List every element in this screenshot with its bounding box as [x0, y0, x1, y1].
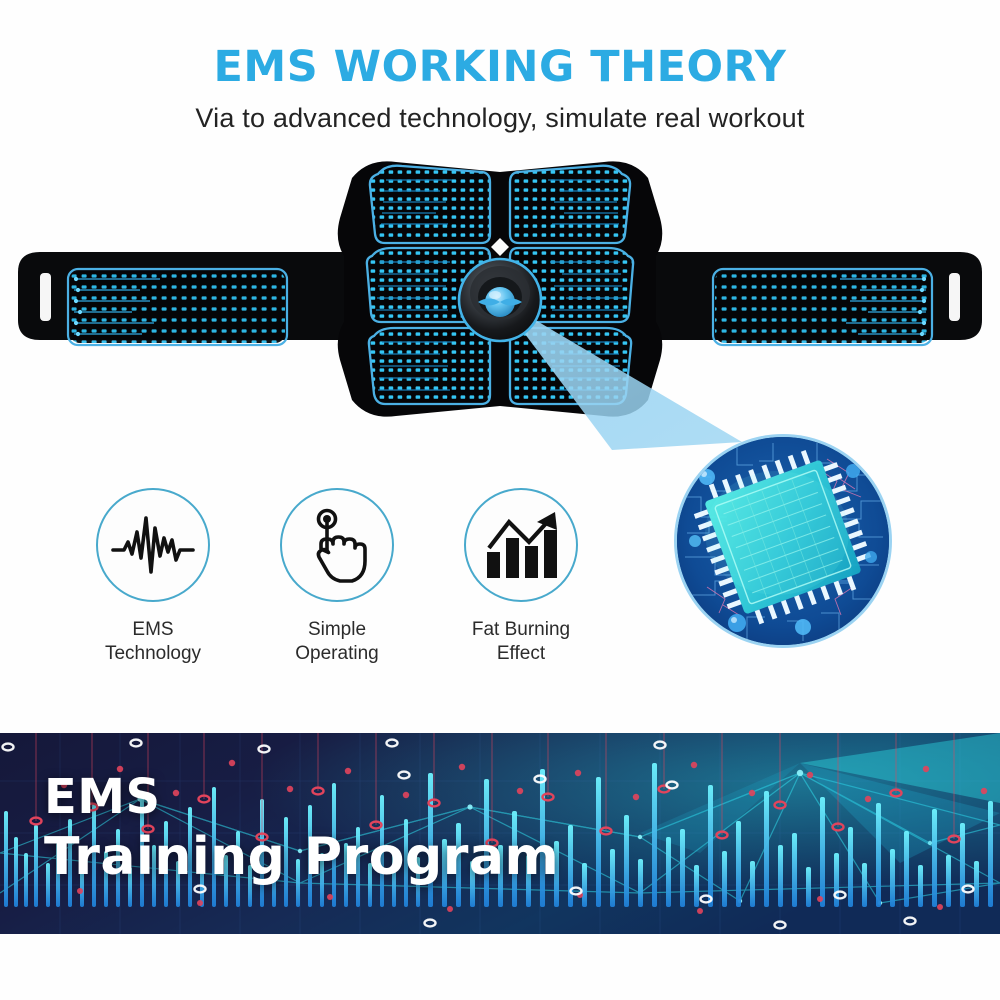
- circuit-board-closeup: [677, 437, 889, 645]
- banner-line-1: EMS: [44, 773, 559, 821]
- feature-label: Simple Operating: [295, 618, 378, 666]
- hand-tap-icon: [301, 507, 373, 583]
- circuit-board-svg: [677, 437, 889, 645]
- right-buckle-slot: [949, 273, 960, 321]
- power-control-button[interactable]: [459, 259, 541, 341]
- waveform-icon: [110, 510, 196, 580]
- banner-heading: EMS Training Program: [44, 773, 559, 883]
- ems-belt-svg: [0, 150, 1000, 480]
- banner-line-2: Training Program: [44, 831, 559, 883]
- left-strap: [18, 252, 370, 345]
- feature-list: EMS Technology Simple Operating: [92, 488, 612, 666]
- ems-training-program-banner: EMS Training Program: [0, 733, 1000, 934]
- product-infographic-page: EMS WORKING THEORY Via to advanced techn…: [0, 0, 1000, 1000]
- feature-icon-circle: [96, 488, 210, 602]
- feature-icon-circle: [280, 488, 394, 602]
- product-illustration: [0, 150, 1000, 480]
- left-buckle-slot: [40, 273, 51, 321]
- page-subtitle: Via to advanced technology, simulate rea…: [0, 105, 1000, 132]
- right-strap: [630, 252, 982, 345]
- feature-icon-circle: [464, 488, 578, 602]
- feature-label: EMS Technology: [105, 618, 201, 666]
- bar-chart-up-icon: [481, 508, 561, 582]
- feature-fat-burning-effect[interactable]: Fat Burning Effect: [460, 488, 582, 666]
- feature-simple-operating[interactable]: Simple Operating: [276, 488, 398, 666]
- header: EMS WORKING THEORY Via to advanced techn…: [0, 46, 1000, 132]
- feature-ems-technology[interactable]: EMS Technology: [92, 488, 214, 666]
- feature-label: Fat Burning Effect: [472, 618, 570, 666]
- page-title: EMS WORKING THEORY: [0, 46, 1000, 89]
